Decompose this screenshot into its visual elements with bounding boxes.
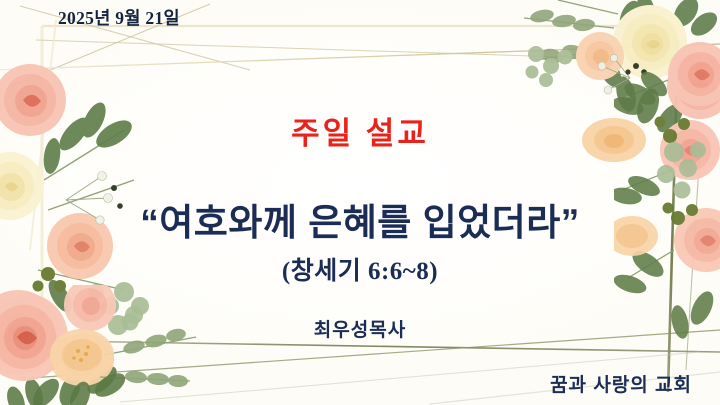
church-name: 꿈과 사랑의 교회: [550, 370, 692, 397]
sermon-slide: 2025년 9월 21일 주일 설교 “여호와께 은혜를 입었더라” (창세기 …: [0, 0, 720, 405]
sermon-label: 주일 설교: [0, 108, 720, 153]
sermon-date: 2025년 9월 21일: [58, 5, 180, 30]
preacher-name: 최우성목사: [0, 315, 720, 342]
page-title: “여호와께 은혜를 입었더라”: [0, 192, 720, 246]
scripture-reference: (창세기 6:6~8): [0, 251, 720, 287]
